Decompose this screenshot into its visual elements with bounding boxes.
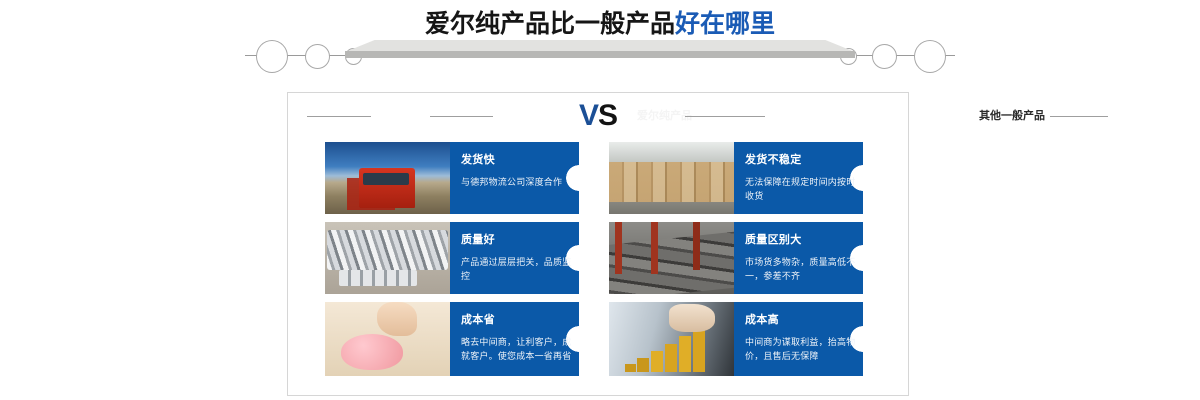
card-image-warehouse — [609, 142, 734, 214]
title-platform-edge — [345, 51, 855, 58]
card-ours-3[interactable]: 成本省 略去中间商，让利客户，成就客户。使您成本一省再省 — [325, 302, 579, 376]
promo-banner: 爱尔纯产品比一般产品好在哪里 爱尔纯产品 VS 其他一般产品 发货快 与德邦物流… — [0, 0, 1200, 400]
card-text: 成本省 略去中间商，让利客户，成就客户。使您成本一省再省 — [461, 302, 573, 376]
card-others-2[interactable]: 质量区别大 市场货多物杂，质量高低不一，参差不齐 — [609, 222, 863, 294]
vs-dash-right-outer — [1050, 116, 1108, 117]
card-image-piggy-bank — [325, 302, 450, 376]
card-text: 成本高 中间商为谋取利益，抬高物价，且售后无保障 — [745, 302, 857, 376]
card-desc: 市场货多物杂，质量高低不一，参差不齐 — [745, 255, 857, 283]
card-text: 发货快 与德邦物流公司深度合作 — [461, 142, 573, 214]
card-image-pipes — [609, 222, 734, 294]
title-platform — [345, 40, 855, 58]
card-image-steel-filters — [325, 222, 450, 294]
card-image-gold-coins — [609, 302, 734, 376]
header-circle-left-1 — [256, 40, 288, 73]
card-desc: 略去中间商，让利客户，成就客户。使您成本一省再省 — [461, 335, 573, 363]
page-title-highlight: 好在哪里 — [675, 10, 775, 38]
card-title: 成本高 — [745, 314, 857, 327]
header-circle-left-2 — [305, 44, 330, 69]
page-title: 爱尔纯产品比一般产品好在哪里 — [0, 9, 1200, 39]
page-title-main: 爱尔纯产品比一般产品 — [425, 10, 675, 38]
card-title: 发货快 — [461, 154, 573, 167]
card-others-3[interactable]: 成本高 中间商为谋取利益，抬高物价，且售后无保障 — [609, 302, 863, 376]
card-desc: 无法保障在规定时间内按时收货 — [745, 175, 857, 203]
card-title: 成本省 — [461, 314, 573, 327]
banner-header: 爱尔纯产品比一般产品好在哪里 — [0, 0, 1200, 86]
card-ours-2[interactable]: 质量好 产品通过层层把关，品质监控 — [325, 222, 579, 294]
header-circle-right-2 — [872, 44, 897, 69]
card-title: 质量区别大 — [745, 234, 857, 247]
vs-row: 爱尔纯产品 VS 其他一般产品 — [287, 98, 909, 138]
vs-label-others: 其他一般产品 — [979, 109, 1045, 123]
vs-letter-v: V — [579, 99, 598, 132]
card-ours-1[interactable]: 发货快 与德邦物流公司深度合作 — [325, 142, 579, 214]
vs-mark: VS — [287, 98, 909, 134]
card-text: 质量好 产品通过层层把关，品质监控 — [461, 222, 573, 294]
vs-letter-s: S — [598, 99, 617, 132]
card-text: 发货不稳定 无法保障在规定时间内按时收货 — [745, 142, 857, 214]
column-other-products: 发货不稳定 无法保障在规定时间内按时收货 质量区别大 市场货多物杂，质量高低不一… — [609, 142, 863, 384]
card-text: 质量区别大 市场货多物杂，质量高低不一，参差不齐 — [745, 222, 857, 294]
card-desc: 中间商为谋取利益，抬高物价，且售后无保障 — [745, 335, 857, 363]
card-desc: 与德邦物流公司深度合作 — [461, 175, 573, 189]
card-others-1[interactable]: 发货不稳定 无法保障在规定时间内按时收货 — [609, 142, 863, 214]
header-circle-right-3 — [914, 40, 946, 73]
vs-dash-right-inner — [685, 116, 765, 117]
card-title: 发货不稳定 — [745, 154, 857, 167]
card-title: 质量好 — [461, 234, 573, 247]
card-desc: 产品通过层层把关，品质监控 — [461, 255, 573, 283]
card-image-truck — [325, 142, 450, 214]
column-our-products: 发货快 与德邦物流公司深度合作 质量好 产品通过层层把关，品质监控 成本省 略去… — [325, 142, 579, 384]
